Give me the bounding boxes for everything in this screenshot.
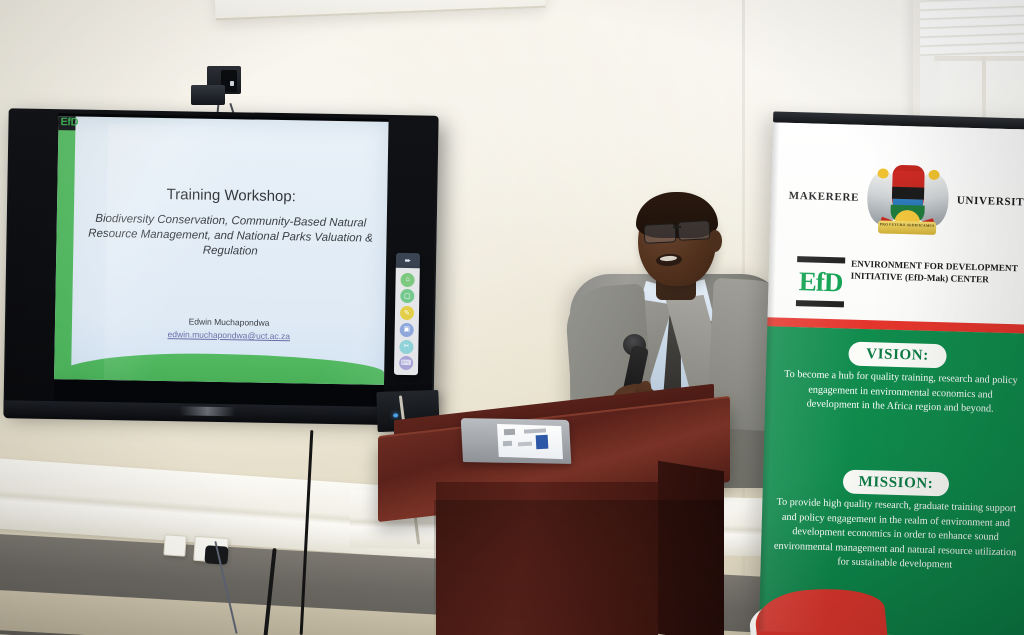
cursor-icon: ➨ [405,256,412,264]
crest-shield-band [892,187,924,200]
camera-icon[interactable]: ▣ [400,323,414,337]
scissors-icon[interactable]: ✂ [399,339,413,353]
display-brand-logo [179,406,235,416]
window-blinds [920,0,1024,56]
laptop-slide-logo-3 [503,441,512,446]
university-text: UNIVERSITY [953,194,1024,208]
select-icon[interactable]: ▢ [400,289,414,303]
efd-rule-bottom [796,300,844,307]
toolbar-drag-handle[interactable]: ➨ [396,253,420,268]
podium-shading [434,500,724,635]
rollup-banner: MAKERERE UNIVERSITY PRO FUTURO AEDIFICAM… [759,111,1024,635]
eyeglasses-left-lens [644,223,677,244]
toolbar-buttons[interactable]: ⌂ ▢ ✎ ▣ ✂ ⌨ [394,268,420,375]
efd-center-name: ENVIRONMENT FOR DEVELOPMENT INITIATIVE (… [851,258,1024,288]
camera-indicator [230,81,234,86]
mission-text: To provide high quality research, gradua… [773,496,1019,576]
banner-university-row: MAKERERE UNIVERSITY PRO FUTURO AEDIFICAM… [770,163,1024,240]
laptop-slide-badge [536,435,549,450]
power-outlet-small[interactable] [163,534,186,556]
wall-display[interactable]: EfD Training Workshop: Biodiversity Cons… [3,108,438,425]
slide-subtitle: Biodiversity Conservation, Community-Bas… [86,212,375,262]
ceiling-camera [191,66,243,112]
display-letterbox-left [6,112,59,401]
eyeglasses-right-lens [678,220,711,241]
vision-heading: VISION: [848,342,947,369]
pen-icon[interactable]: ✎ [400,306,414,320]
banner-efd-row: EfD ENVIRONMENT FOR DEVELOPMENT INITIATI… [768,251,1024,320]
display-screen[interactable]: EfD Training Workshop: Biodiversity Cons… [54,116,389,385]
slide-title: Training Workshop: [81,185,381,207]
keyboard-icon[interactable]: ⌨ [399,356,413,370]
home-icon[interactable]: ⌂ [400,273,414,287]
efd-wordmark: EfD [796,262,845,301]
window-mullion-horizontal [934,56,1024,61]
slide-accent-bar [54,116,76,379]
efd-logo-mark: EfD [796,256,845,307]
vision-text: To become a hub for quality training, re… [781,368,1020,418]
makerere-text: MAKERERE [785,190,863,204]
eyeglasses-bridge [673,226,681,228]
efd-logo-slide: EfD [60,116,78,128]
screen-annotation-toolbar[interactable]: ➨ ⌂ ▢ ✎ ▣ ✂ ⌨ [394,253,420,375]
presentation-slide: EfD Training Workshop: Biodiversity Cons… [54,116,389,385]
makerere-coat-of-arms: PRO FUTURO AEDIFICAMUS [864,162,952,242]
laptop-slide-logo-4 [518,442,532,447]
mission-heading: MISSION: [843,469,950,496]
photo-scene: EfD Training Workshop: Biodiversity Cons… [0,0,1024,635]
slide-email-link[interactable]: edwin.muchapondwa@uct.ac.za [79,328,379,343]
camera-body [191,85,225,105]
laptop-slide-logo-1 [504,429,515,436]
slide-text-block: Training Workshop: Biodiversity Conserva… [78,117,383,385]
